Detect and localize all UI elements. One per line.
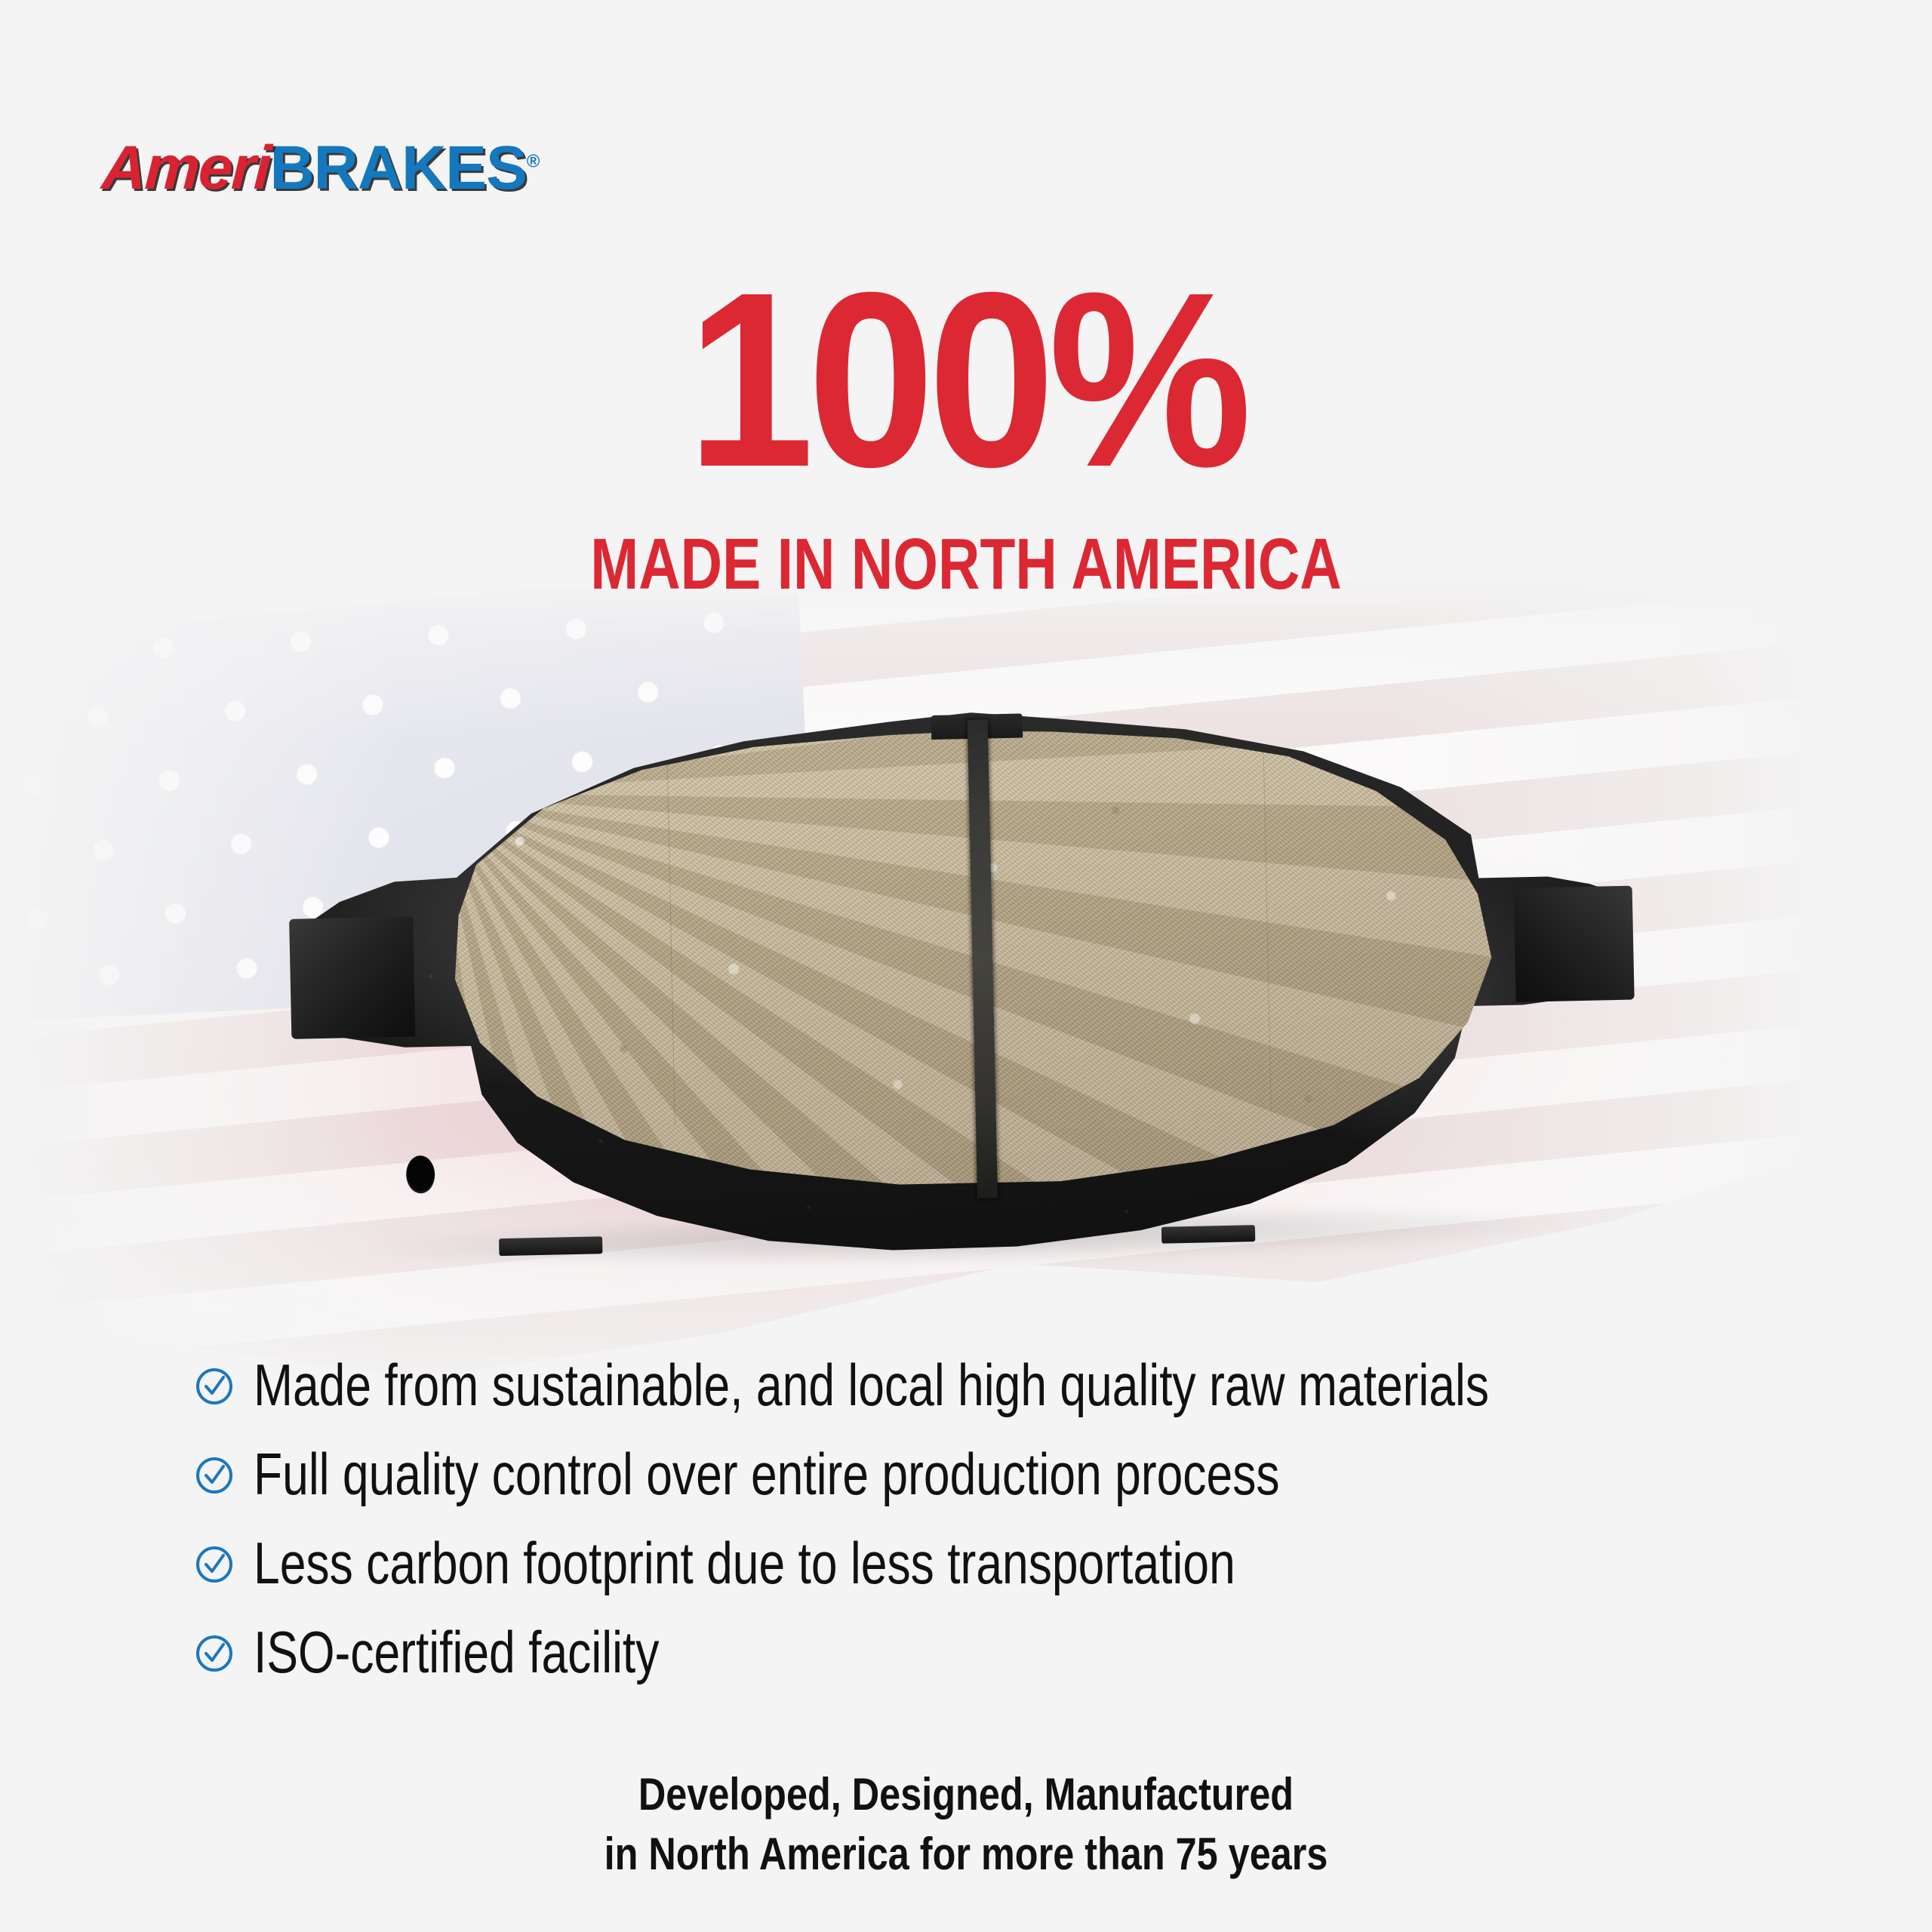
list-item: Less carbon footprint due to less transp… <box>195 1518 1742 1607</box>
feature-label: ISO-certified facility <box>254 1623 659 1681</box>
headline-subtitle: MADE IN NORTH AMERICA <box>193 528 1739 601</box>
feature-label: Full quality control over entire product… <box>254 1444 1280 1503</box>
feature-label: Less carbon footprint due to less transp… <box>254 1534 1235 1592</box>
footer-line-1: Developed, Designed, Manufactured <box>155 1764 1777 1824</box>
backing-plate-notch-right <box>1161 1225 1256 1243</box>
backing-plate-hole <box>406 1155 435 1194</box>
footer-note: Developed, Designed, Manufactured in Nor… <box>0 1764 1932 1884</box>
backing-plate-tab-left <box>289 917 416 1039</box>
list-item: Full quality control over entire product… <box>195 1429 1742 1518</box>
check-circle-icon <box>195 1456 234 1495</box>
friction-chamfer-left <box>667 760 675 1125</box>
logo-text-brakes: BRAKES <box>269 137 526 199</box>
backing-plate-notch-left <box>499 1237 603 1257</box>
list-item: ISO-certified facility <box>195 1607 1742 1697</box>
logo-text-ameri: Ameri <box>100 137 272 199</box>
headline-percent: 100% <box>77 255 1854 504</box>
check-circle-icon <box>195 1367 234 1406</box>
check-circle-icon <box>195 1545 234 1584</box>
friction-chamfer-right <box>1263 748 1272 1113</box>
brake-pad-product-image <box>274 695 1666 1267</box>
marketing-banner: AmeriBRAKES® 100% MADE IN NORTH AMERICA <box>0 0 1932 1932</box>
feature-list: Made from sustainable, and local high qu… <box>195 1340 1742 1697</box>
backing-plate-tab-right <box>1513 886 1635 1002</box>
check-circle-icon <box>195 1634 234 1673</box>
registered-trademark-icon: ® <box>527 152 539 172</box>
footer-line-2: in North America for more than 75 years <box>155 1824 1777 1884</box>
list-item: Made from sustainable, and local high qu… <box>195 1340 1742 1429</box>
brand-logo[interactable]: AmeriBRAKES® <box>102 137 538 199</box>
feature-label: Made from sustainable, and local high qu… <box>254 1355 1489 1414</box>
